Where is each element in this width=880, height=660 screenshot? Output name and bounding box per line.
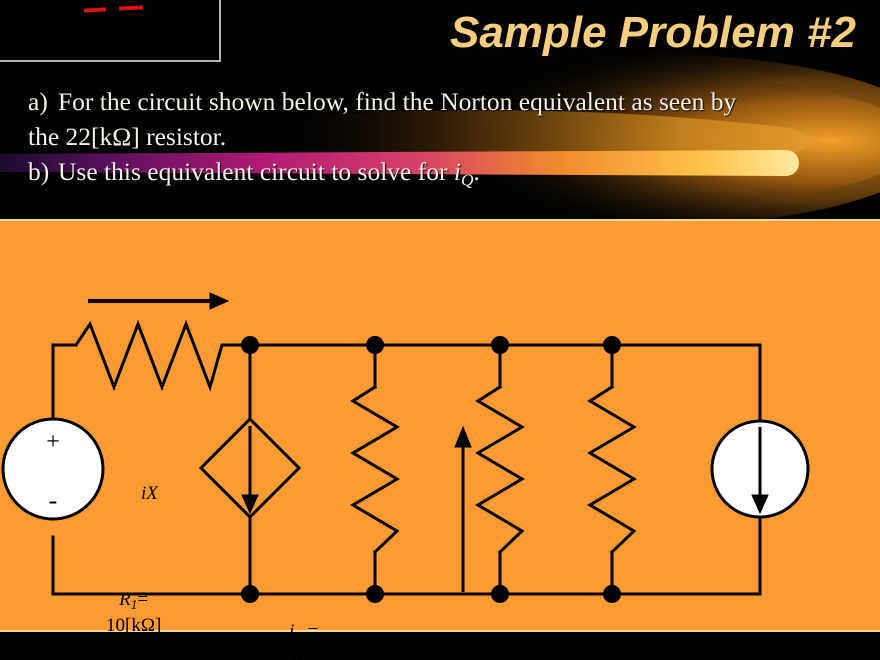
is1-gain: 10 (289, 647, 308, 660)
vs1-plus-sign: + (46, 429, 60, 455)
slide-root: Sample Problem #2 a)For the circuit show… (0, 0, 880, 660)
resistor-r1-zigzag (76, 324, 250, 387)
resistor-r2-zigzag (353, 387, 397, 552)
node-dot (603, 585, 621, 603)
logo-dash-right-icon (119, 5, 143, 10)
is1-control-subscript: X (313, 655, 321, 660)
resistor-r4-zigzag (590, 387, 634, 552)
problem-item-b-text: Use this equivalent circuit to solve for (58, 157, 454, 186)
problem-item-b-var: i (454, 157, 461, 186)
node-dot (366, 585, 384, 603)
circuit-schematic: + - (0, 221, 880, 630)
problem-marker-a: a) (28, 84, 58, 119)
node-dot (491, 585, 509, 603)
r1-value: 10[kΩ] (106, 615, 161, 636)
resistor-r1-label: R1= 10[kΩ] (106, 589, 161, 636)
current-ix-arrow-head (210, 293, 228, 309)
current-iq-arrow-head (455, 427, 471, 447)
node-dot (241, 336, 259, 354)
problem-item-b-subscript: Q (461, 171, 474, 190)
logo-placeholder-box (0, 0, 221, 62)
problem-statement: a)For the circuit shown below, find the … (28, 84, 864, 198)
vs1-minus-sign: - (49, 486, 58, 515)
problem-item-b-period: . (473, 157, 479, 186)
problem-item-a-line1: a)For the circuit shown below, find the … (28, 84, 864, 119)
is1-subscript: S1 (294, 629, 307, 644)
r1-symbol: R (119, 589, 131, 610)
node-dot (603, 336, 621, 354)
r1-subscript: 1 (131, 597, 138, 612)
problem-item-a-text2: the 22[kΩ] resistor. (28, 122, 226, 151)
current-ix-label: iX (141, 483, 158, 505)
problem-item-a-text1: For the circuit shown below, find the No… (58, 87, 736, 116)
circuit-diagram-panel: + - iX R1= 10[kΩ] vS1= 100[V] iS1= 10iX … (0, 219, 880, 632)
problem-item-b-line1: b)Use this equivalent circuit to solve f… (28, 154, 864, 198)
problem-marker-b: b) (28, 154, 58, 189)
page-title: Sample Problem #2 (450, 6, 856, 60)
source-is1-label: iS1= 10iX (289, 621, 321, 660)
problem-item-a-line2: the 22[kΩ] resistor. (28, 119, 864, 154)
logo-dash-left-icon (84, 7, 106, 12)
current-ix-subscript: X (146, 483, 158, 504)
node-dot (241, 585, 259, 603)
node-dot (491, 336, 509, 354)
resistor-r3-zigzag (478, 387, 522, 552)
node-dot (366, 336, 384, 354)
